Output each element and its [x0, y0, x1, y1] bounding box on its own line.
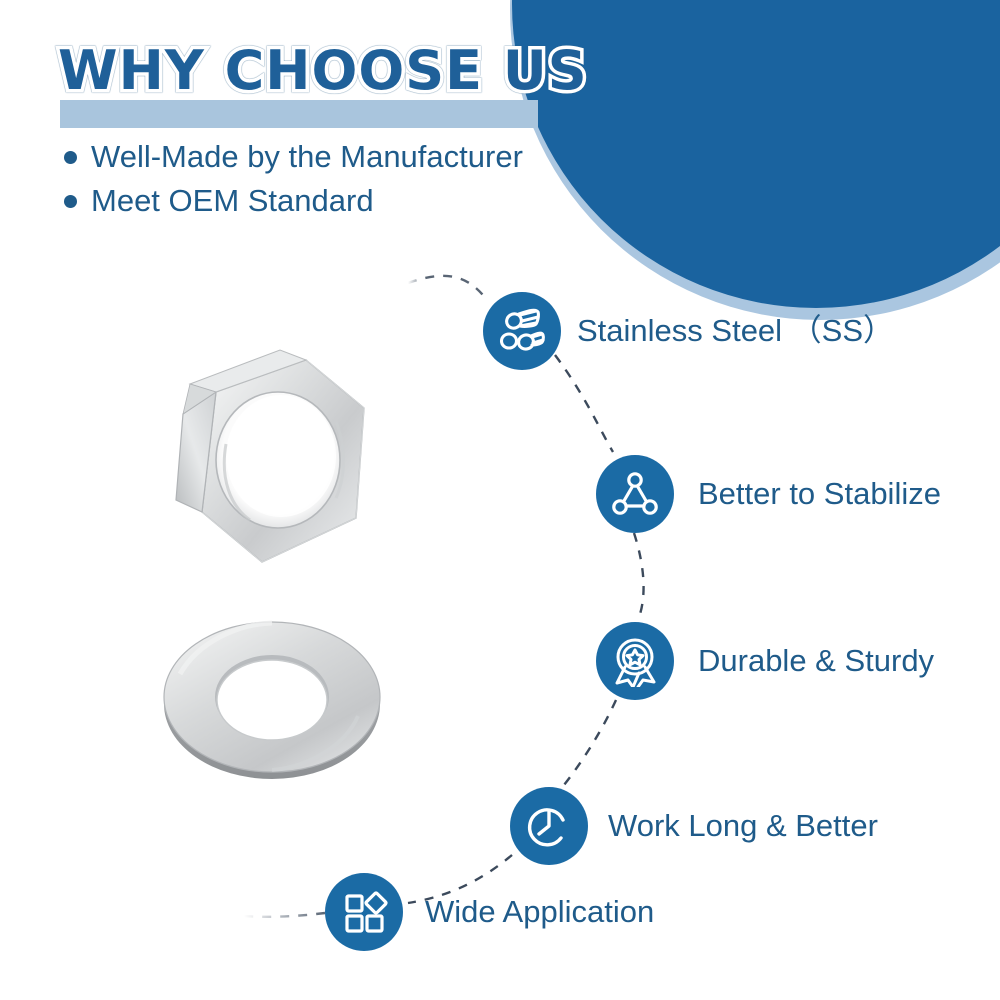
feature-row-stabilize[interactable]: Better to Stabilize — [596, 455, 941, 533]
feature-label: Work Long & Better — [608, 809, 878, 843]
list-item: Meet OEM Standard — [64, 184, 523, 218]
network-triangle-icon — [596, 455, 674, 533]
steel-bars-icon — [483, 292, 561, 370]
benefit-list: Well-Made by the Manufacturer Meet OEM S… — [64, 140, 523, 228]
bullet-dot-icon — [64, 195, 77, 208]
feature-row-work-long[interactable]: Work Long & Better — [510, 787, 878, 865]
title-underline-bar — [60, 100, 538, 128]
list-item: Well-Made by the Manufacturer — [64, 140, 523, 174]
title-block: WHY CHOOSE US — [58, 44, 588, 98]
infographic-canvas: WHY CHOOSE US Well-Made by the Manufactu… — [0, 0, 1000, 1000]
bullet-dot-icon — [64, 151, 77, 164]
feature-label: Stainless Steel （SS） — [577, 314, 894, 348]
grid-squares-icon — [325, 873, 403, 951]
clock-icon — [510, 787, 588, 865]
page-title: WHY CHOOSE US — [58, 44, 588, 98]
feature-label: Durable & Sturdy — [698, 644, 934, 678]
hex-nut-photo — [150, 348, 370, 570]
feature-row-durable[interactable]: Durable & Sturdy — [596, 622, 934, 700]
feature-row-stainless-steel[interactable]: Stainless Steel （SS） — [483, 292, 894, 370]
benefit-label: Meet OEM Standard — [91, 184, 374, 218]
award-ribbon-icon — [596, 622, 674, 700]
feature-row-wide-application[interactable]: Wide Application — [325, 873, 654, 951]
flat-washer-photo — [160, 612, 385, 782]
feature-label: Wide Application — [425, 895, 654, 929]
feature-label: Better to Stabilize — [698, 477, 941, 511]
benefit-label: Well-Made by the Manufacturer — [91, 140, 523, 174]
